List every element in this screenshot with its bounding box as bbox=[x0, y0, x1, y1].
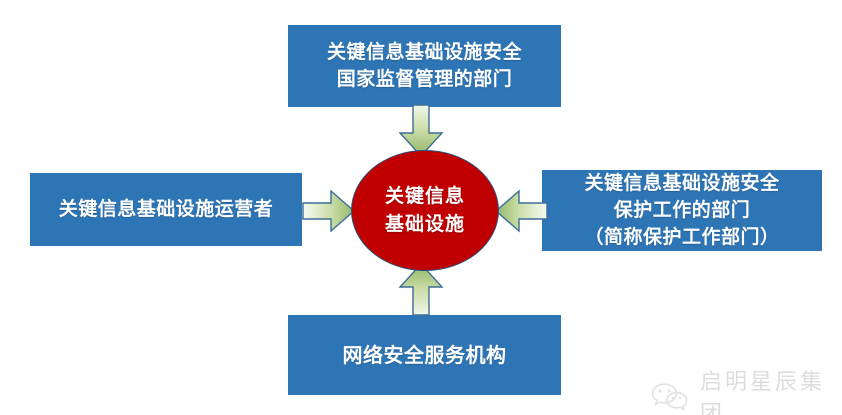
watermark: 启明星辰集团 bbox=[648, 364, 842, 415]
node-box-right[interactable]: 关键信息基础设施安全 保护工作的部门 （简称保护工作部门） bbox=[542, 170, 822, 251]
node-box-top-label: 关键信息基础设施安全 国家监督管理的部门 bbox=[321, 39, 528, 93]
node-box-bottom-label: 网络安全服务机构 bbox=[337, 341, 513, 369]
arrow-right-icon bbox=[302, 189, 356, 233]
node-box-bottom[interactable]: 网络安全服务机构 bbox=[288, 315, 561, 395]
diagram-canvas: 关键信息基础设施安全 国家监督管理的部门 关键信息基础设施运营者 关键信息基础设… bbox=[0, 0, 842, 415]
watermark-text: 启明星辰集团 bbox=[700, 364, 842, 415]
node-box-right-label: 关键信息基础设施安全 保护工作的部门 （简称保护工作部门） bbox=[578, 170, 785, 251]
center-node-label: 关键信息 基础设施 bbox=[385, 183, 465, 238]
node-box-left[interactable]: 关键信息基础设施运营者 bbox=[30, 173, 302, 246]
wechat-icon bbox=[648, 381, 690, 411]
node-box-left-label: 关键信息基础设施运营者 bbox=[53, 196, 280, 223]
node-box-top[interactable]: 关键信息基础设施安全 国家监督管理的部门 bbox=[288, 25, 561, 107]
center-node-ellipse[interactable]: 关键信息 基础设施 bbox=[351, 150, 499, 271]
arrow-left-icon bbox=[494, 189, 548, 233]
